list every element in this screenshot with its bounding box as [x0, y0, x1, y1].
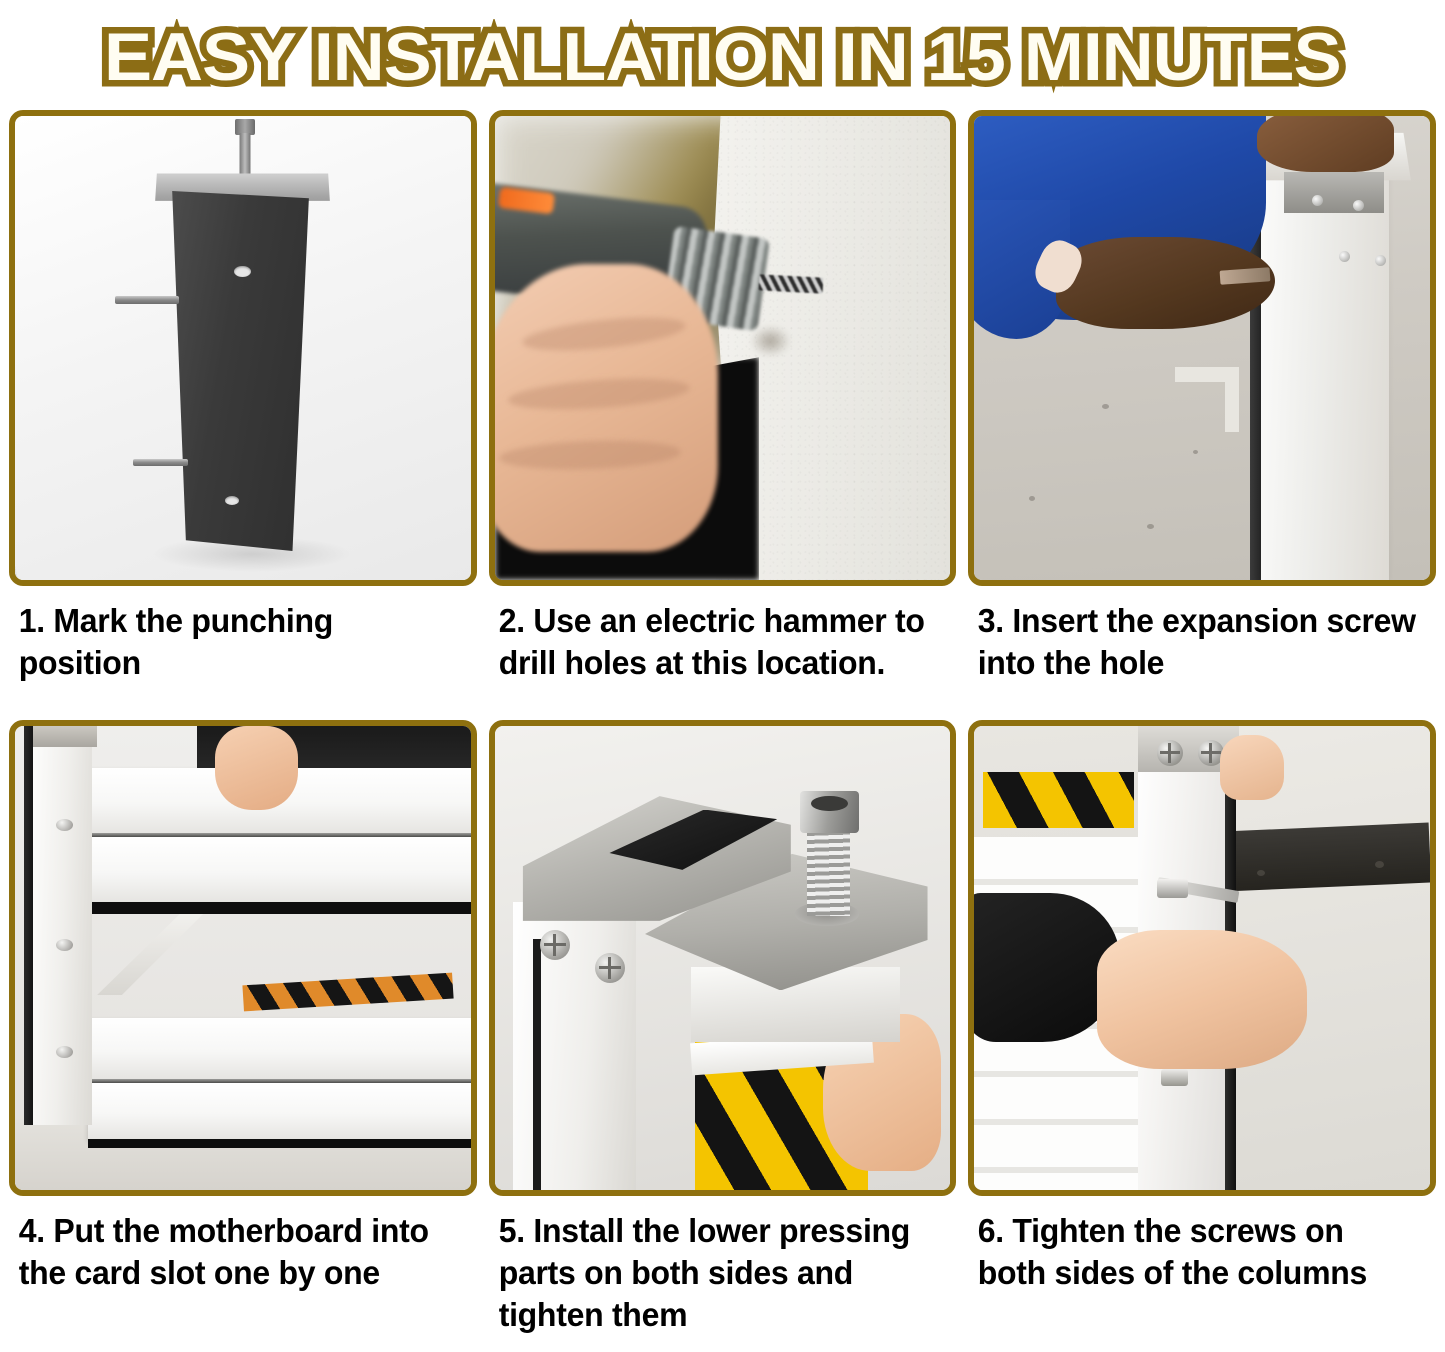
step-photo-frame-4: [9, 720, 477, 1196]
bracket-body: [172, 191, 309, 551]
plate-screw: [1353, 200, 1364, 211]
installer-upper-hand: [1220, 735, 1284, 800]
step-photo-frame-1: [9, 110, 477, 586]
wall-speck: [1375, 861, 1384, 868]
installer-hand: [1097, 930, 1307, 1069]
column-screw-lower: [1161, 1069, 1188, 1086]
column-body: [33, 726, 92, 1125]
step-caption-3: 3. Insert the expansion screw into the h…: [968, 586, 1422, 720]
step-caption-2: 2. Use an electric hammer to drill holes…: [489, 586, 943, 720]
barrier-board: [88, 1018, 471, 1078]
step-card-5: 5. Install the lower pressing parts on b…: [489, 720, 957, 1330]
plate-screw: [1339, 251, 1350, 262]
hazard-stripe-board: [983, 772, 1133, 828]
barrier-board: [88, 1083, 471, 1139]
step-photo-frame-2: [489, 110, 957, 586]
column-screw: [56, 819, 73, 831]
column-mount-plate: [1284, 172, 1384, 214]
bolt-shaft: [240, 133, 251, 178]
board-gap: [88, 902, 471, 914]
header-banner: EASY INSTALLATION IN 15 MINUTES: [0, 0, 1445, 110]
wall-speck: [1257, 870, 1265, 876]
bolt-thread: [807, 828, 850, 916]
step-card-1: 1. Mark the punching position: [9, 110, 477, 720]
photo-install-pressing-parts: [495, 726, 951, 1190]
drill-bit: [759, 274, 824, 293]
step-card-4: 4. Put the motherboard into the card slo…: [9, 720, 477, 1330]
bracket-hole-upper: [234, 266, 251, 277]
step-caption-4: 4. Put the motherboard into the card slo…: [9, 1196, 463, 1330]
plate-screw: [1312, 195, 1323, 206]
bracket-pin-upper: [115, 296, 179, 304]
column-screw-upper: [1157, 879, 1189, 898]
step-caption-6: 6. Tighten the screws on both sides of t…: [968, 1196, 1422, 1330]
bracket-pin-lower: [133, 459, 188, 466]
installer-hand: [215, 726, 297, 810]
hex-socket: [811, 796, 847, 812]
page-title: EASY INSTALLATION IN 15 MINUTES: [104, 23, 1341, 91]
step-caption-1: 1. Mark the punching position: [9, 586, 463, 720]
photo-insert-boards: [15, 726, 471, 1190]
photo-mark-punching-position: [15, 116, 471, 580]
worker-upper-hand: [1257, 116, 1394, 172]
operator-hand: [495, 264, 718, 552]
board-gap: [88, 1139, 471, 1148]
floor-speck: [1102, 404, 1109, 409]
step-card-6: 6. Tighten the screws on both sides of t…: [968, 720, 1436, 1330]
drill-dust: [750, 325, 791, 357]
column-face: [513, 902, 636, 1190]
column-top-plate: [33, 726, 97, 747]
steps-grid: 1. Mark the punching position 2. Use an …: [0, 110, 1445, 1330]
column-dark-edge: [533, 939, 540, 1190]
column-cap-screw: [1157, 740, 1183, 766]
step-photo-frame-5: [489, 720, 957, 1196]
photo-tighten-column-screws: [974, 726, 1430, 1190]
photo-insert-expansion-screw: [974, 116, 1430, 580]
step-card-3: 3. Insert the expansion screw into the h…: [968, 110, 1436, 720]
step-card-2: 2. Use an electric hammer to drill holes…: [489, 110, 957, 720]
bracket-hole-lower: [225, 496, 239, 505]
barrier-board: [88, 837, 471, 902]
photo-drill-holes: [495, 116, 951, 580]
step-photo-frame-3: [968, 110, 1436, 586]
step-caption-5: 5. Install the lower pressing parts on b…: [489, 1196, 943, 1330]
step-photo-frame-6: [968, 720, 1436, 1196]
allen-key-leg: [1225, 367, 1239, 432]
